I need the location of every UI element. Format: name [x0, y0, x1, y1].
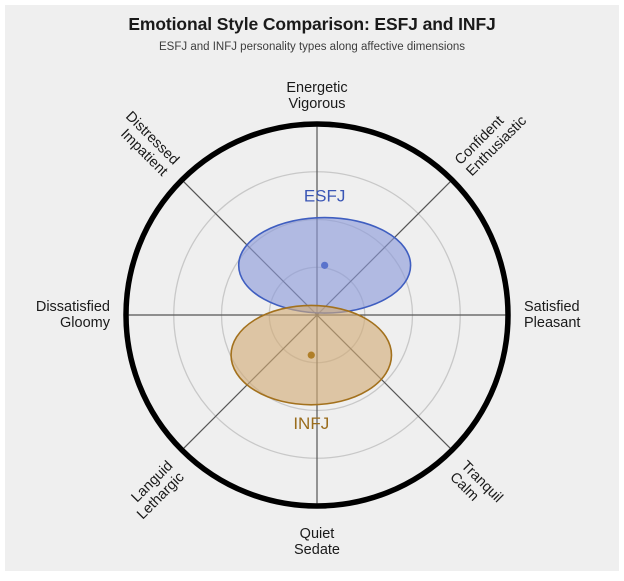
- chart-page: Emotional Style Comparison: ESFJ and INF…: [0, 0, 624, 576]
- series-ellipses: [231, 218, 411, 405]
- axis-label-dissatisfied: DissatisfiedGloomy: [36, 299, 111, 331]
- axis-label-energetic: EnergeticVigorous: [286, 80, 347, 112]
- axis-label-line2: Sedate: [294, 542, 340, 558]
- axis-label-line2: Gloomy: [60, 315, 111, 331]
- axis-label-distressed: DistressedImpatient: [111, 109, 182, 180]
- axis-label-line2: Vigorous: [289, 96, 346, 112]
- axis-label-line1: Satisfied: [524, 299, 580, 315]
- axis-label-tranquil: TranquilCalm: [446, 458, 505, 517]
- axis-label-confident: ConfidentEnthusiastic: [452, 102, 530, 180]
- center-point-infj: [308, 352, 315, 359]
- axis-label-line1: Quiet: [300, 526, 335, 542]
- circumplex-plot: EnergeticVigorousConfidentEnthusiasticSa…: [5, 5, 624, 581]
- axis-label-line1: Dissatisfied: [36, 299, 110, 315]
- axis-label-quiet: QuietSedate: [294, 526, 340, 558]
- center-point-esfj: [321, 262, 328, 269]
- axis-label-languid: LanguidLethargic: [123, 458, 188, 523]
- axis-label-line2: Pleasant: [524, 315, 580, 331]
- axis-label-line1: Energetic: [286, 80, 347, 96]
- series-label-infj: INFJ: [293, 414, 329, 433]
- axis-label-satisfied: SatisfiedPleasant: [524, 299, 580, 331]
- series-label-esfj: ESFJ: [304, 187, 346, 206]
